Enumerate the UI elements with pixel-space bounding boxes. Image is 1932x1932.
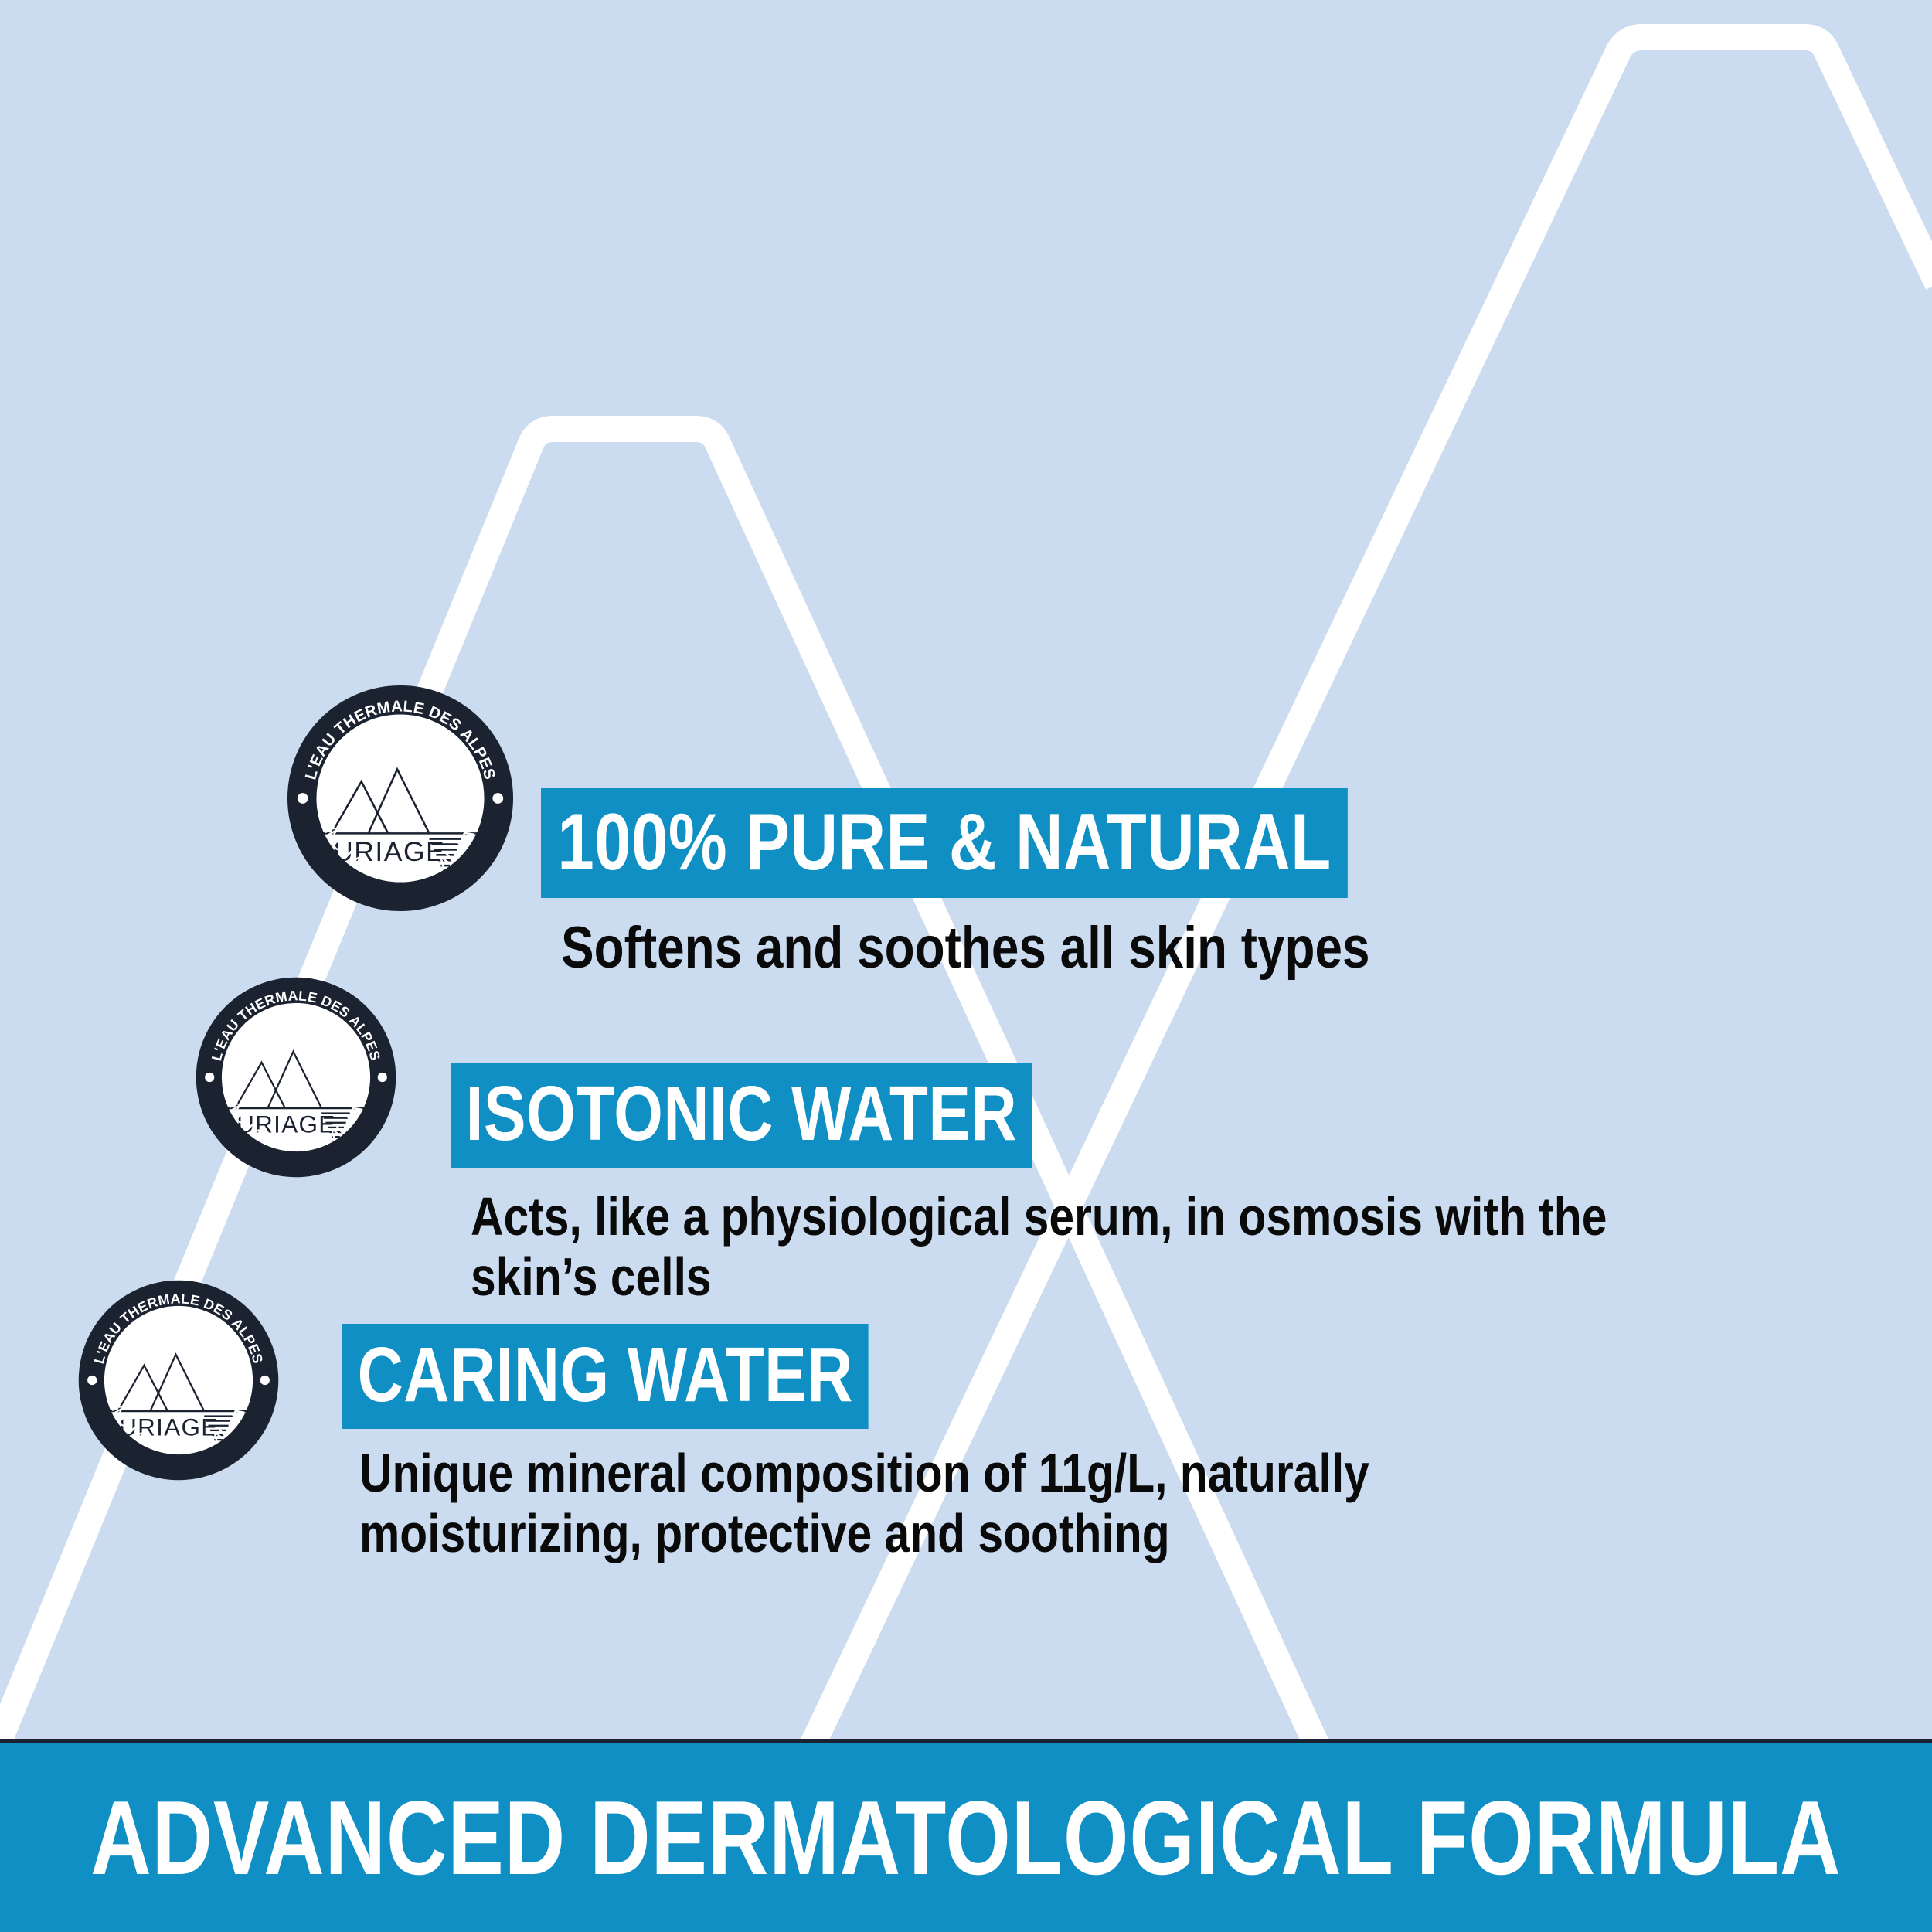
feature-subtitle: Acts, like a physiological serum, in osm… — [471, 1186, 1704, 1308]
uriage-seal-icon: URIAGE L'EAU THERMALE DES ALPES FRENCH A… — [195, 976, 397, 1179]
feature-banner-wrap: 100% PURE & NATURAL — [541, 788, 1525, 898]
advanced-formula-banner-text: ADVANCED DERMATOLOGICAL FORMULA — [90, 1785, 1841, 1890]
uriage-seal-logo: URIAGE L'EAU THERMALE DES ALPES FRENCH A… — [195, 976, 397, 1179]
feature-banner-label: 100% PURE & NATURAL — [541, 788, 1348, 898]
feature-banner-wrap: CARING WATER — [342, 1324, 1905, 1429]
uriage-seal-icon: URIAGE L'EAU THERMALE DES ALPES FRENCH A… — [286, 684, 515, 913]
feature-banner-wrap: ISOTONIC WATER — [451, 1063, 1932, 1168]
feature-block-caring-water: CARING WATER Unique mineral composition … — [342, 1324, 1905, 1564]
advanced-formula-banner: ADVANCED DERMATOLOGICAL FORMULA — [0, 1739, 1932, 1932]
feature-block-isotonic-water: ISOTONIC WATER Acts, like a physiologica… — [451, 1063, 1932, 1308]
feature-subtitle: Unique mineral composition of 11g/L, nat… — [359, 1443, 1658, 1564]
feature-block-pure-natural: 100% PURE & NATURAL Softens and soothes … — [541, 788, 1525, 981]
feature-banner-label: ISOTONIC WATER — [451, 1063, 1032, 1168]
uriage-seal-logo: URIAGE L'EAU THERMALE DES ALPES FRENCH A… — [77, 1279, 280, 1481]
feature-banner-label: CARING WATER — [342, 1324, 869, 1429]
infographic-canvas: URIAGE L'EAU THERMALE DES ALPES FRENCH A… — [0, 0, 1932, 1932]
feature-subtitle: Softens and soothes all skin types — [561, 915, 1371, 981]
uriage-seal-logo: URIAGE L'EAU THERMALE DES ALPES FRENCH A… — [286, 684, 515, 913]
uriage-seal-icon: URIAGE L'EAU THERMALE DES ALPES FRENCH A… — [77, 1279, 280, 1481]
